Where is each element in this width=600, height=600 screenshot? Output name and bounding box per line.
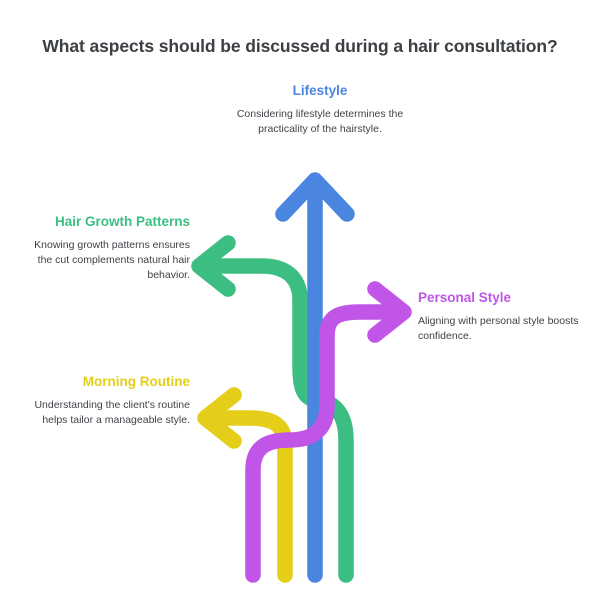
callout-morning-routine-heading: Morning Routine bbox=[28, 373, 190, 391]
callout-personal-style-heading: Personal Style bbox=[418, 289, 588, 307]
callout-personal-style-body: Aligning with personal style boosts conf… bbox=[418, 314, 588, 344]
callout-hair-growth-heading: Hair Growth Patterns bbox=[28, 213, 190, 231]
callout-hair-growth-body: Knowing growth patterns ensures the cut … bbox=[28, 238, 190, 284]
callout-lifestyle-body: Considering lifestyle determines the pra… bbox=[235, 107, 405, 137]
callout-morning-routine: Morning Routine Understanding the client… bbox=[28, 373, 190, 428]
arrow-left-morning-routine bbox=[205, 395, 285, 575]
callout-morning-routine-body: Understanding the client's routine helps… bbox=[28, 398, 190, 428]
infographic-canvas: What aspects should be discussed during … bbox=[0, 0, 600, 600]
callout-hair-growth: Hair Growth Patterns Knowing growth patt… bbox=[28, 213, 190, 283]
callout-personal-style: Personal Style Aligning with personal st… bbox=[418, 289, 588, 344]
callout-lifestyle: Lifestyle Considering lifestyle determin… bbox=[235, 82, 405, 137]
callout-lifestyle-heading: Lifestyle bbox=[235, 82, 405, 100]
